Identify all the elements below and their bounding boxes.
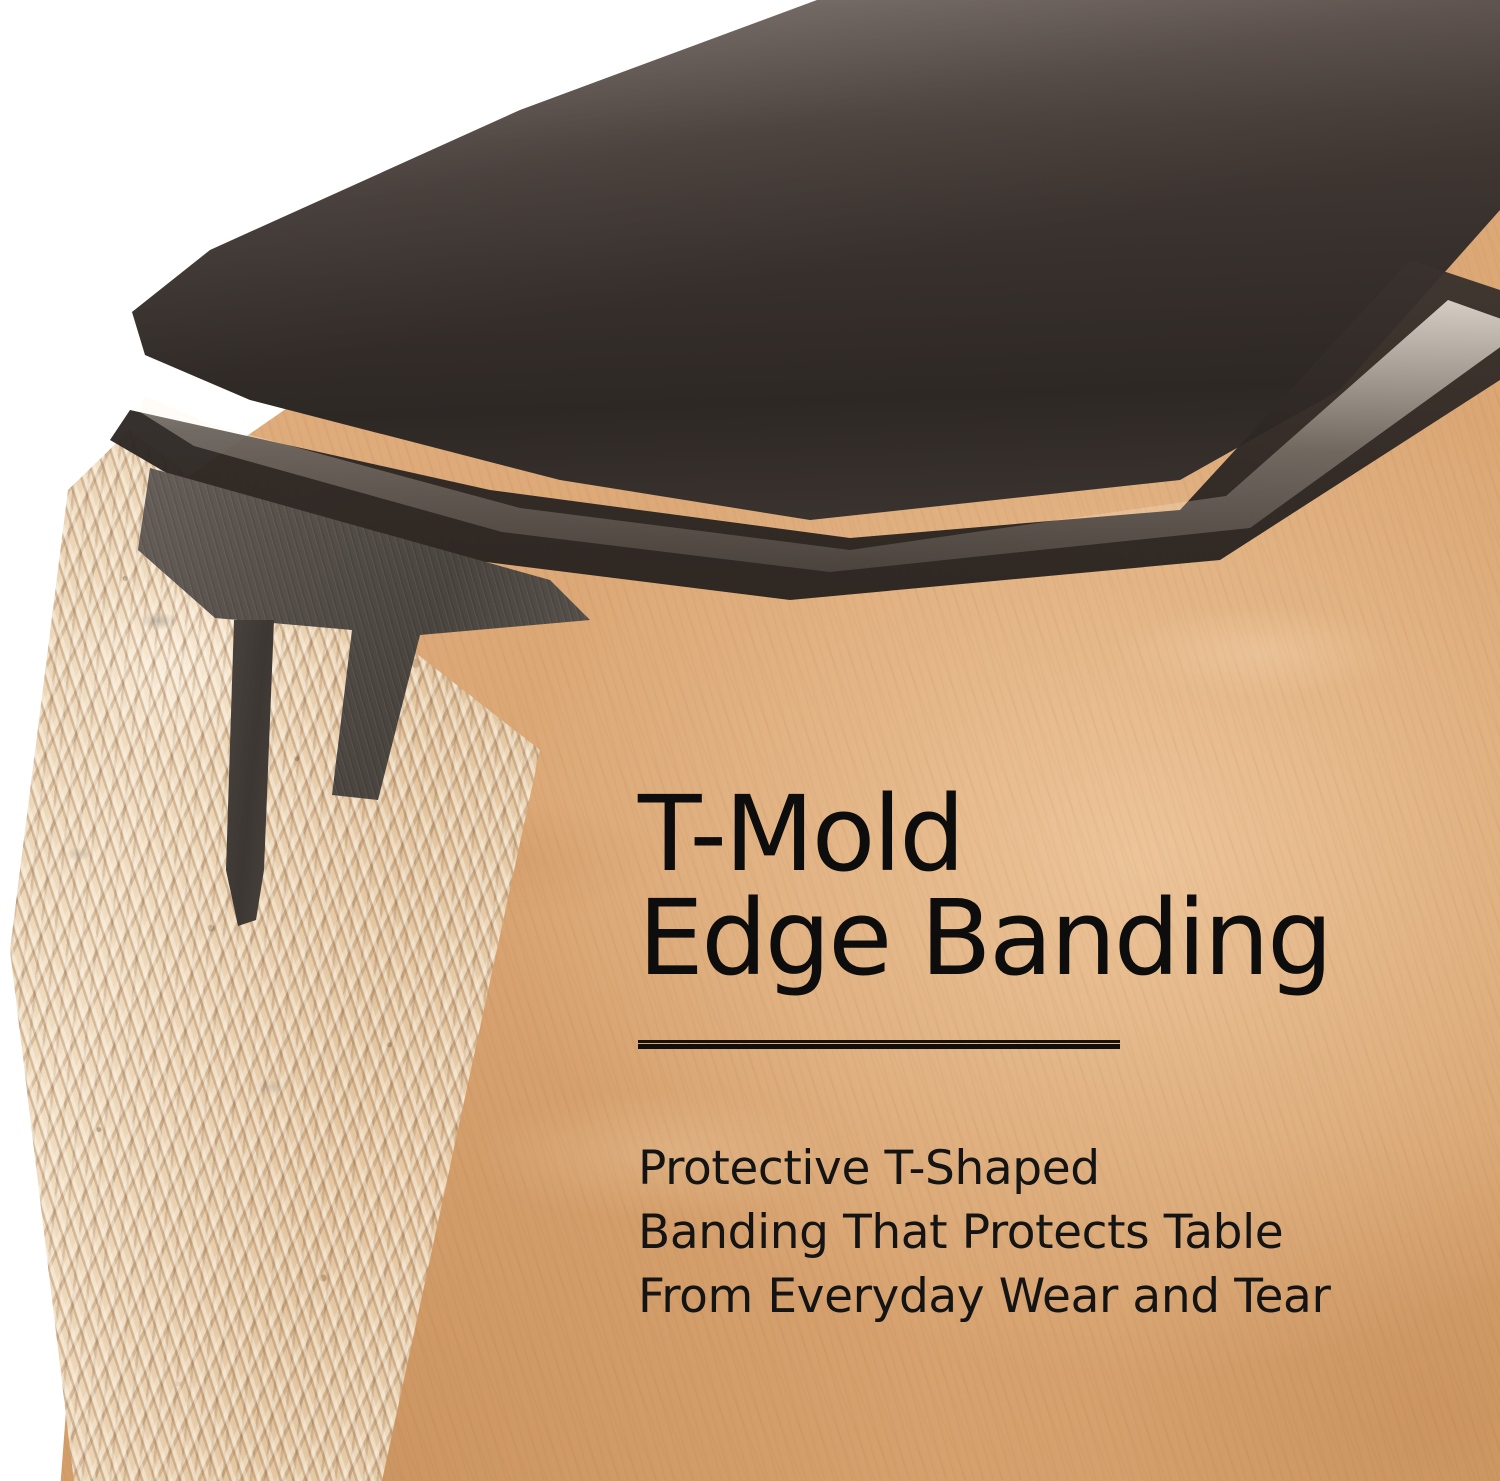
headline-line-2: Edge Banding [638,886,1398,990]
description-line-1: Protective T-Shaped [638,1137,1398,1201]
copy-block: T-Mold Edge Banding Protective T-Shaped … [638,782,1398,1329]
description-text: Protective T-Shaped Banding That Protect… [638,1137,1398,1329]
description-line-3: From Everyday Wear and Tear [638,1265,1398,1329]
page-title: T-Mold Edge Banding [638,782,1398,990]
divider-rule [638,1040,1120,1049]
description-line-2: Banding That Protects Table [638,1201,1398,1265]
product-feature-image: T-Mold Edge Banding Protective T-Shaped … [0,0,1500,1481]
